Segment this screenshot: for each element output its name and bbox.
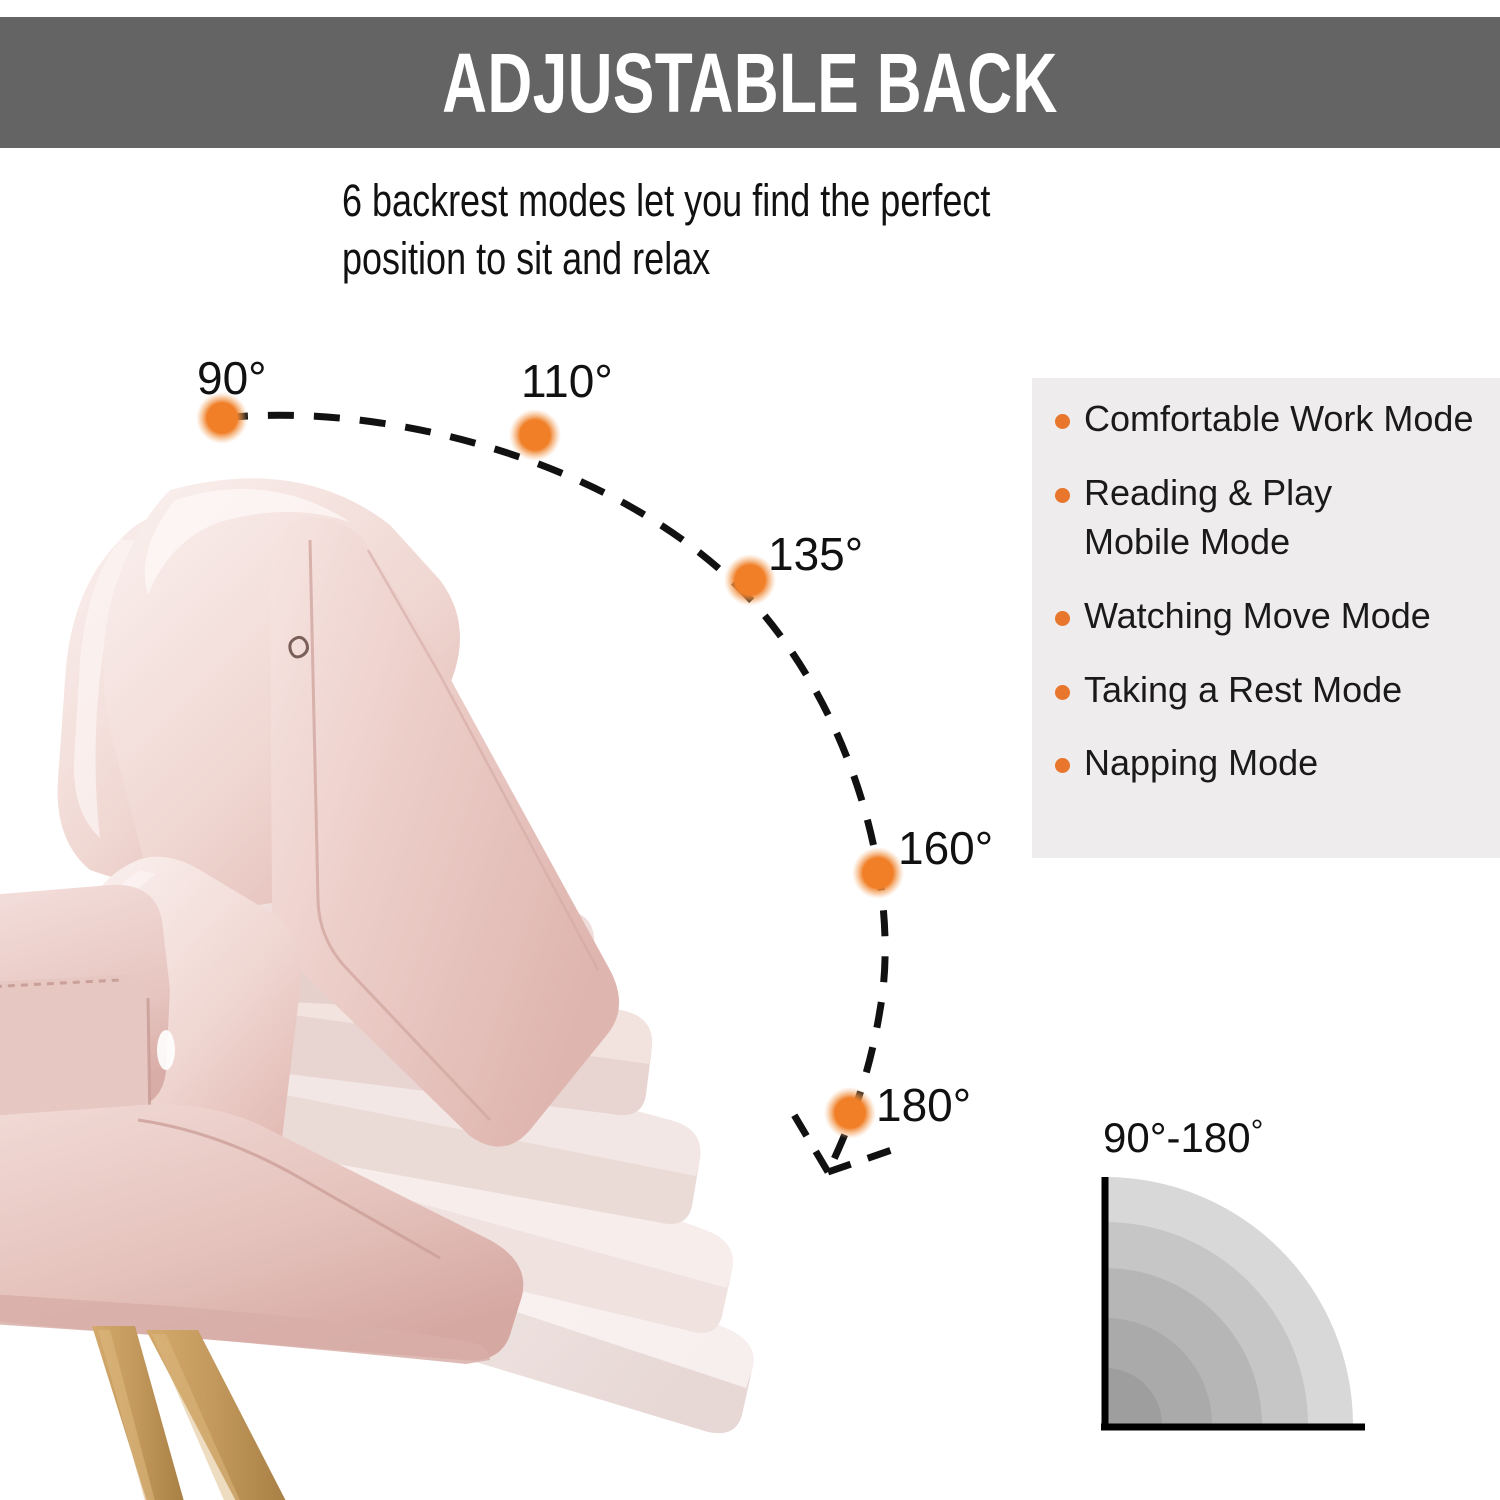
angle-label-110: 110°: [521, 358, 613, 404]
subtitle: 6 backrest modes let you find the perfec…: [342, 172, 1062, 287]
bullet-dot-icon: [1055, 758, 1070, 773]
feature-label: Watching Move Mode: [1084, 591, 1431, 641]
chair-illustration: [0, 430, 790, 1500]
subtitle-line-1: 6 backrest modes let you find the perfec…: [342, 172, 1062, 230]
angle-label-135: 135°: [768, 531, 863, 577]
range-label-text: 90°-180: [1103, 1114, 1251, 1161]
feature-label: Napping Mode: [1084, 738, 1318, 788]
feature-label: Comfortable Work Mode: [1084, 394, 1473, 444]
list-item[interactable]: Napping Mode: [1055, 738, 1485, 788]
bullet-dot-icon: [1055, 611, 1070, 626]
angle-label-180: 180°: [876, 1082, 971, 1128]
angle-dot-160[interactable]: [852, 847, 904, 899]
feature-label: Taking a Rest Mode: [1084, 665, 1402, 715]
angle-label-160: 160°: [898, 825, 993, 871]
angle-dot-180[interactable]: [824, 1087, 876, 1139]
mode-feature-list: Comfortable Work Mode Reading & PlayMobi…: [1055, 394, 1485, 788]
infographic-page: ADJUSTABLE BACK 6 backrest modes let you…: [0, 0, 1500, 1500]
bullet-dot-icon: [1055, 685, 1070, 700]
range-label: 90°-180°: [1103, 1115, 1263, 1159]
subtitle-line-2: position to sit and relax: [342, 230, 1062, 288]
page-title: ADJUSTABLE BACK: [195, 17, 1305, 148]
quarter-circle-bands: [1097, 1177, 1382, 1432]
bullet-dot-icon: [1055, 488, 1070, 503]
list-item[interactable]: Reading & PlayMobile Mode: [1055, 468, 1485, 567]
list-item[interactable]: Watching Move Mode: [1055, 591, 1485, 641]
list-item[interactable]: Taking a Rest Mode: [1055, 665, 1485, 715]
list-item[interactable]: Comfortable Work Mode: [1055, 394, 1485, 444]
arrow-wing-left: [790, 1108, 828, 1172]
arrow-wing-right: [828, 1145, 906, 1172]
chair-legs: [92, 1326, 288, 1500]
feature-label: Reading & PlayMobile Mode: [1084, 468, 1332, 567]
bullet-dot-icon: [1055, 414, 1070, 429]
recline-range-diagram: 90°-180°: [1085, 1115, 1395, 1445]
angle-dot-110[interactable]: [509, 409, 561, 461]
range-label-degree-icon: °: [1251, 1113, 1264, 1149]
angle-label-90: 90°: [197, 355, 267, 401]
